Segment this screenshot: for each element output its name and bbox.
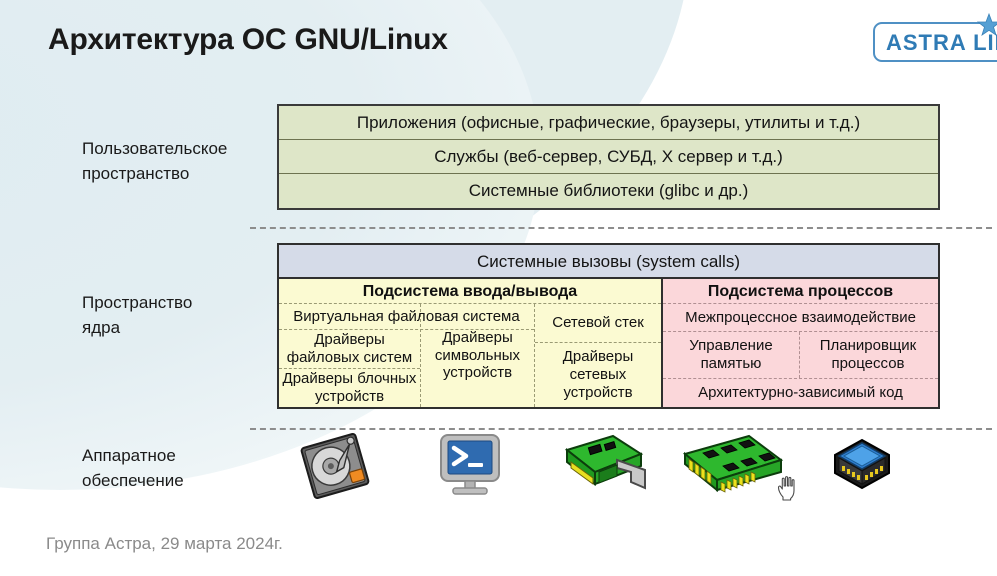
io-cell-network-drivers: Драйверы сетевых устройств bbox=[535, 343, 661, 407]
system-calls-bar: Системные вызовы (system calls) bbox=[279, 245, 938, 279]
tier-label-hardware-line2: обеспечение bbox=[82, 469, 272, 494]
process-subsystem: Подсистема процессов Межпроцессное взаим… bbox=[663, 279, 938, 407]
tier-label-user-space-line1: Пользовательское bbox=[82, 137, 272, 162]
io-cell-filesystem-drivers: Драйверы файловых систем bbox=[279, 330, 420, 369]
io-subsystem-network-column: Сетевой стек Драйверы сетевых устройств bbox=[534, 304, 661, 407]
io-subsystem-body: Виртуальная файловая система Драйверы фа… bbox=[279, 304, 661, 407]
user-space-row-services: Службы (веб-сервер, СУБД, X сервер и т.д… bbox=[279, 140, 938, 174]
user-space-row-applications: Приложения (офисные, графические, браузе… bbox=[279, 106, 938, 140]
astra-linux-logo: ASTRA LINUX bbox=[873, 22, 997, 62]
io-cell-char-device-drivers-text: Драйверы символьных устройств bbox=[435, 329, 520, 382]
io-subsystem-left-group: Виртуальная файловая система Драйверы фа… bbox=[279, 304, 534, 407]
tier-label-user-space-line2: пространство bbox=[82, 162, 272, 187]
io-subsystem-fs-column: Виртуальная файловая система Драйверы фа… bbox=[279, 304, 421, 407]
network-card-icon bbox=[555, 432, 647, 498]
divider-kernel-hardware bbox=[250, 428, 992, 430]
hard-disk-icon bbox=[297, 432, 373, 500]
io-subsystem: Подсистема ввода/вывода Виртуальная файл… bbox=[279, 279, 663, 407]
tier-label-kernel-space-line1: Пространство bbox=[82, 291, 272, 316]
proc-cell-scheduler-text: Планировщик процессов bbox=[820, 337, 916, 372]
tier-label-kernel-space: Пространство ядра bbox=[82, 291, 272, 340]
divider-user-kernel bbox=[250, 227, 992, 229]
cpu-chip-icon bbox=[827, 432, 897, 498]
io-cell-filesystem-drivers-text: Драйверы файловых систем bbox=[287, 331, 412, 366]
proc-cell-memory-management: Управление памятью bbox=[663, 332, 800, 378]
proc-cell-memory-management-text: Управление памятью bbox=[689, 337, 772, 372]
slide-content: Архитектура ОС GNU/Linux ASTRA LINUX Пол… bbox=[0, 0, 997, 576]
kernel-subsystems: Подсистема ввода/вывода Виртуальная файл… bbox=[279, 279, 938, 407]
user-space-row-libraries: Системные библиотеки (glibc и др.) bbox=[279, 174, 938, 208]
io-subsystem-title: Подсистема ввода/вывода bbox=[279, 279, 661, 304]
terminal-icon bbox=[437, 432, 503, 498]
tier-label-user-space: Пользовательское пространство bbox=[82, 137, 272, 186]
ram-module-icon bbox=[677, 432, 787, 502]
io-cell-block-device-drivers-text: Драйверы блочных устройств bbox=[283, 370, 417, 405]
footer-text: Группа Астра, 29 марта 2024г. bbox=[46, 534, 283, 554]
astra-linux-logo-text: ASTRA LINUX bbox=[886, 30, 997, 56]
tier-label-kernel-space-line2: ядра bbox=[82, 316, 272, 341]
user-space-stack: Приложения (офисные, графические, браузе… bbox=[277, 104, 940, 210]
io-cell-block-device-drivers: Драйверы блочных устройств bbox=[279, 369, 420, 407]
io-cell-network-stack: Сетевой стек bbox=[535, 304, 661, 343]
process-subsystem-body: Межпроцессное взаимодействие Управление … bbox=[663, 304, 938, 407]
io-subsystem-char-column: Драйверы символьных устройств bbox=[421, 304, 534, 407]
proc-cell-ipc: Межпроцессное взаимодействие bbox=[663, 304, 938, 332]
io-cell-char-device-drivers: Драйверы символьных устройств bbox=[421, 304, 534, 407]
hardware-icon-row bbox=[277, 432, 940, 502]
hand-cursor bbox=[776, 475, 798, 501]
page-title: Архитектура ОС GNU/Linux bbox=[48, 23, 448, 57]
proc-cell-arch-dependent-code: Архитектурно-зависимый код bbox=[663, 379, 938, 407]
process-subsystem-middle-row: Управление памятью Планировщик процессов bbox=[663, 332, 938, 379]
io-cell-network-drivers-text: Драйверы сетевых устройств bbox=[563, 348, 634, 401]
process-subsystem-title: Подсистема процессов bbox=[663, 279, 938, 304]
tier-label-hardware-line1: Аппаратное bbox=[82, 444, 272, 469]
kernel-space-stack: Системные вызовы (system calls) Подсисте… bbox=[277, 243, 940, 409]
proc-cell-scheduler: Планировщик процессов bbox=[800, 332, 936, 378]
tier-label-hardware: Аппаратное обеспечение bbox=[82, 444, 272, 493]
